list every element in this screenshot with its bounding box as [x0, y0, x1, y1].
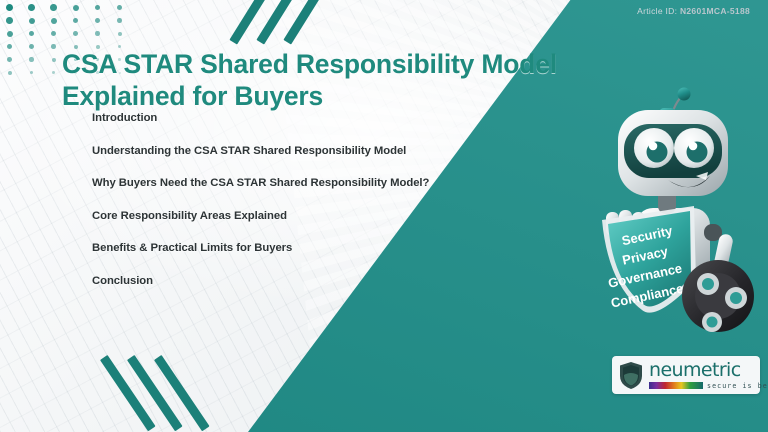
shield-icon [618, 361, 644, 390]
robot-mascot: Security Privacy Governance Compliance [596, 84, 766, 344]
toc-item[interactable]: Core Responsibility Areas Explained [92, 210, 592, 222]
toc-item[interactable]: Conclusion [92, 275, 592, 287]
article-id-value: N2601MCA-5188 [680, 6, 750, 16]
robot-eye-glint-right [689, 142, 698, 151]
toc-item[interactable]: Understanding the CSA STAR Shared Respon… [92, 145, 592, 157]
logo-rainbow-bar [649, 382, 703, 389]
robot-antenna-ball [678, 88, 691, 101]
page-title: CSA STAR Shared Responsibility Model Exp… [62, 48, 622, 113]
toc-item[interactable]: Introduction [92, 112, 592, 124]
logo-bottom-row: secure is better [649, 382, 768, 390]
article-id: Article ID: N2601MCA-5188 [637, 6, 750, 16]
diagonal-stripes-bottom [100, 360, 230, 432]
robot-eye-glint-left [649, 142, 658, 151]
article-id-label: Article ID: [637, 6, 677, 16]
toc-item[interactable]: Why Buyers Need the CSA STAR Shared Resp… [92, 177, 592, 189]
toc-item[interactable]: Benefits & Practical Limits for Buyers [92, 242, 592, 254]
neumetric-logo[interactable]: neumetric secure is better [612, 356, 760, 394]
diagonal-stripes-top [258, 0, 388, 40]
logo-wordmark: neumetric [649, 361, 768, 380]
table-of-contents: Introduction Understanding the CSA STAR … [92, 112, 592, 307]
logo-tagline: secure is better [707, 382, 768, 390]
logo-text-block: neumetric secure is better [649, 361, 768, 390]
robot-wheel [682, 260, 754, 332]
robot-mascot-illustration: Security Privacy Governance Compliance [596, 84, 766, 344]
presentation-slide: Article ID: N2601MCA-5188 CSA STAR Share… [0, 0, 768, 432]
